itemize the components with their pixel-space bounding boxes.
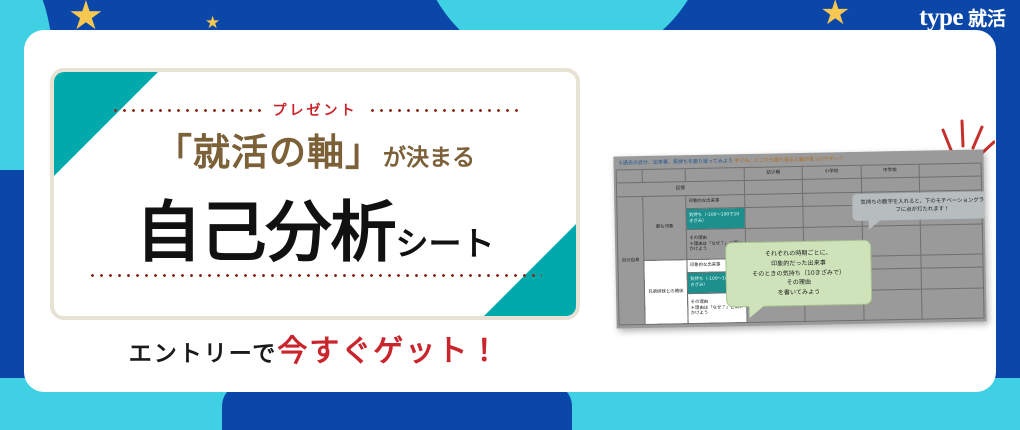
column-header: 幼少期 — [744, 166, 803, 180]
cell-empty[interactable] — [921, 254, 983, 268]
cell-empty[interactable] — [802, 179, 861, 193]
cell-empty[interactable] — [920, 224, 983, 255]
page-title: 自己分析シート — [54, 179, 576, 275]
site-logo[interactable]: type 就活 — [919, 4, 1006, 32]
cta-highlight: 今すぐゲット！ — [277, 334, 501, 369]
worksheet-screenshot: ①過去の自分、出来事、気持ちを振り返ってみよう 中でも、どこから振り返ると軸が見… — [613, 149, 986, 328]
column-header — [919, 163, 981, 178]
row-label-event: 印象的な出来事 — [686, 194, 745, 208]
dotted-rule-bottom — [88, 274, 542, 277]
cell-empty[interactable] — [919, 176, 981, 191]
banner-stage: ★ ★ ★ type 就活 プレゼント 「就活の軸」が決まる 自己分析シート — [0, 0, 1020, 430]
star-icon: ★ — [205, 14, 220, 31]
eyebrow-label: プレゼント — [273, 100, 358, 120]
sheet-title-note: 中でも、どこから振り返ると軸が見つけやすい！ — [734, 156, 844, 164]
cell-empty[interactable] — [744, 193, 803, 207]
row-subgroup-label: 最も印象 — [642, 195, 687, 260]
subheadline-main: 「就活の軸」 — [155, 131, 383, 174]
page-title-main: 自己分析 — [136, 194, 396, 271]
page-title-tail: シート — [396, 224, 495, 263]
banner-card: プレゼント 「就活の軸」が決まる 自己分析シート エントリーで今すぐゲット！ — [24, 30, 996, 392]
cell-empty[interactable] — [745, 206, 804, 228]
cell-blank — [642, 169, 686, 183]
eyebrow-row: プレゼント — [54, 100, 576, 120]
callout-motivation-graph: 気持ちの数字を入れると、下のモチベーショングラフに点が打たれます！ — [852, 191, 986, 220]
cell-blank — [685, 168, 744, 182]
dotted-rule-left — [111, 109, 263, 112]
cta-text: エントリーで今すぐゲット！ — [50, 326, 580, 370]
section-label: 自分自身 — [617, 196, 645, 325]
cell-empty[interactable] — [861, 178, 920, 192]
offer-panel: プレゼント 「就活の軸」が決まる 自己分析シート — [50, 68, 580, 320]
callout-instructions: それぞれの時期ごとに、印象的だった出来事そのときの気持ち（10きざみで）その理由… — [725, 240, 872, 308]
column-header: 小学校 — [802, 165, 861, 179]
star-icon: ★ — [820, 0, 850, 30]
subheadline-tail: が決まる — [383, 145, 475, 171]
logo-jp-text: 就活 — [968, 4, 1006, 31]
column-header: 中学校 — [861, 164, 920, 178]
cta-prefix: エントリーで — [129, 341, 278, 367]
worksheet-preview[interactable]: ①過去の自分、出来事、気持ちを振り返ってみよう 中でも、どこから振り返ると軸が見… — [615, 153, 985, 325]
cell-empty[interactable] — [744, 180, 803, 194]
row-label-feeling: 気持ち（-100～100で10きざみ） — [686, 207, 745, 229]
subheadline: 「就活の軸」が決まる — [54, 122, 576, 176]
dotted-rule-right — [368, 109, 520, 112]
cell-empty[interactable] — [921, 288, 984, 319]
cell-blank — [616, 170, 642, 184]
logo-type-text: type — [919, 4, 963, 32]
cell-empty[interactable] — [921, 267, 983, 290]
sheet-title-text: ①過去の自分、出来事、気持ちを振り返ってみよう — [618, 158, 732, 166]
row-subgroup-label: 兄弟姉妹との関係 — [643, 259, 688, 324]
